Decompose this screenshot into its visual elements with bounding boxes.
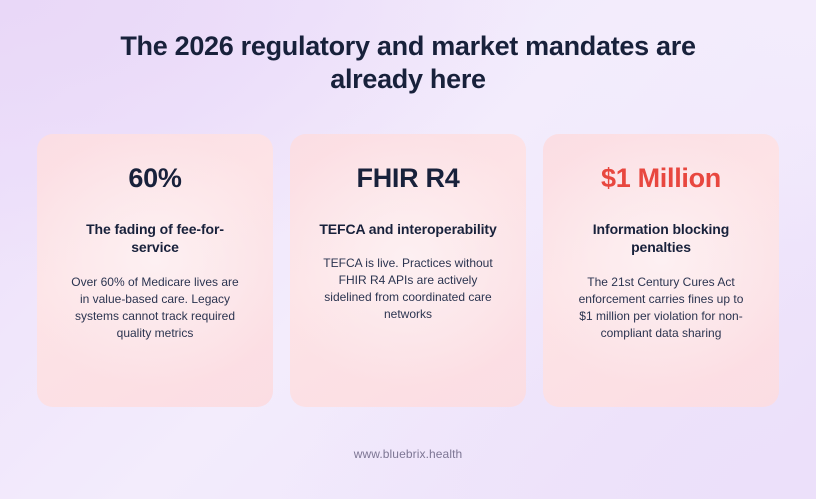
stat-card-subtitle: TEFCA and interoperability: [319, 220, 496, 238]
stat-cards-row: 60% The fading of fee-for-service Over 6…: [37, 134, 779, 407]
stat-card-subtitle: The fading of fee-for-service: [65, 220, 245, 257]
stat-card-fee-for-service: 60% The fading of fee-for-service Over 6…: [37, 134, 273, 407]
page-title: The 2026 regulatory and market mandates …: [0, 30, 816, 96]
stat-card-headline: 60%: [128, 164, 181, 194]
stat-card-body: Over 60% of Medicare lives are in value-…: [69, 274, 241, 342]
stat-card-headline: FHIR R4: [357, 164, 460, 194]
stat-card-interoperability: FHIR R4 TEFCA and interoperability TEFCA…: [290, 134, 526, 407]
stat-card-body: TEFCA is live. Practices without FHIR R4…: [322, 255, 494, 323]
stat-card-body: The 21st Century Cures Act enforcement c…: [575, 274, 747, 342]
stat-card-headline: $1 Million: [601, 164, 721, 194]
footer-website-url: www.bluebrix.health: [0, 447, 816, 461]
slide-canvas: The 2026 regulatory and market mandates …: [0, 0, 816, 499]
stat-card-information-blocking: $1 Million Information blocking penaltie…: [543, 134, 779, 407]
stat-card-subtitle: Information blocking penalties: [571, 220, 751, 257]
